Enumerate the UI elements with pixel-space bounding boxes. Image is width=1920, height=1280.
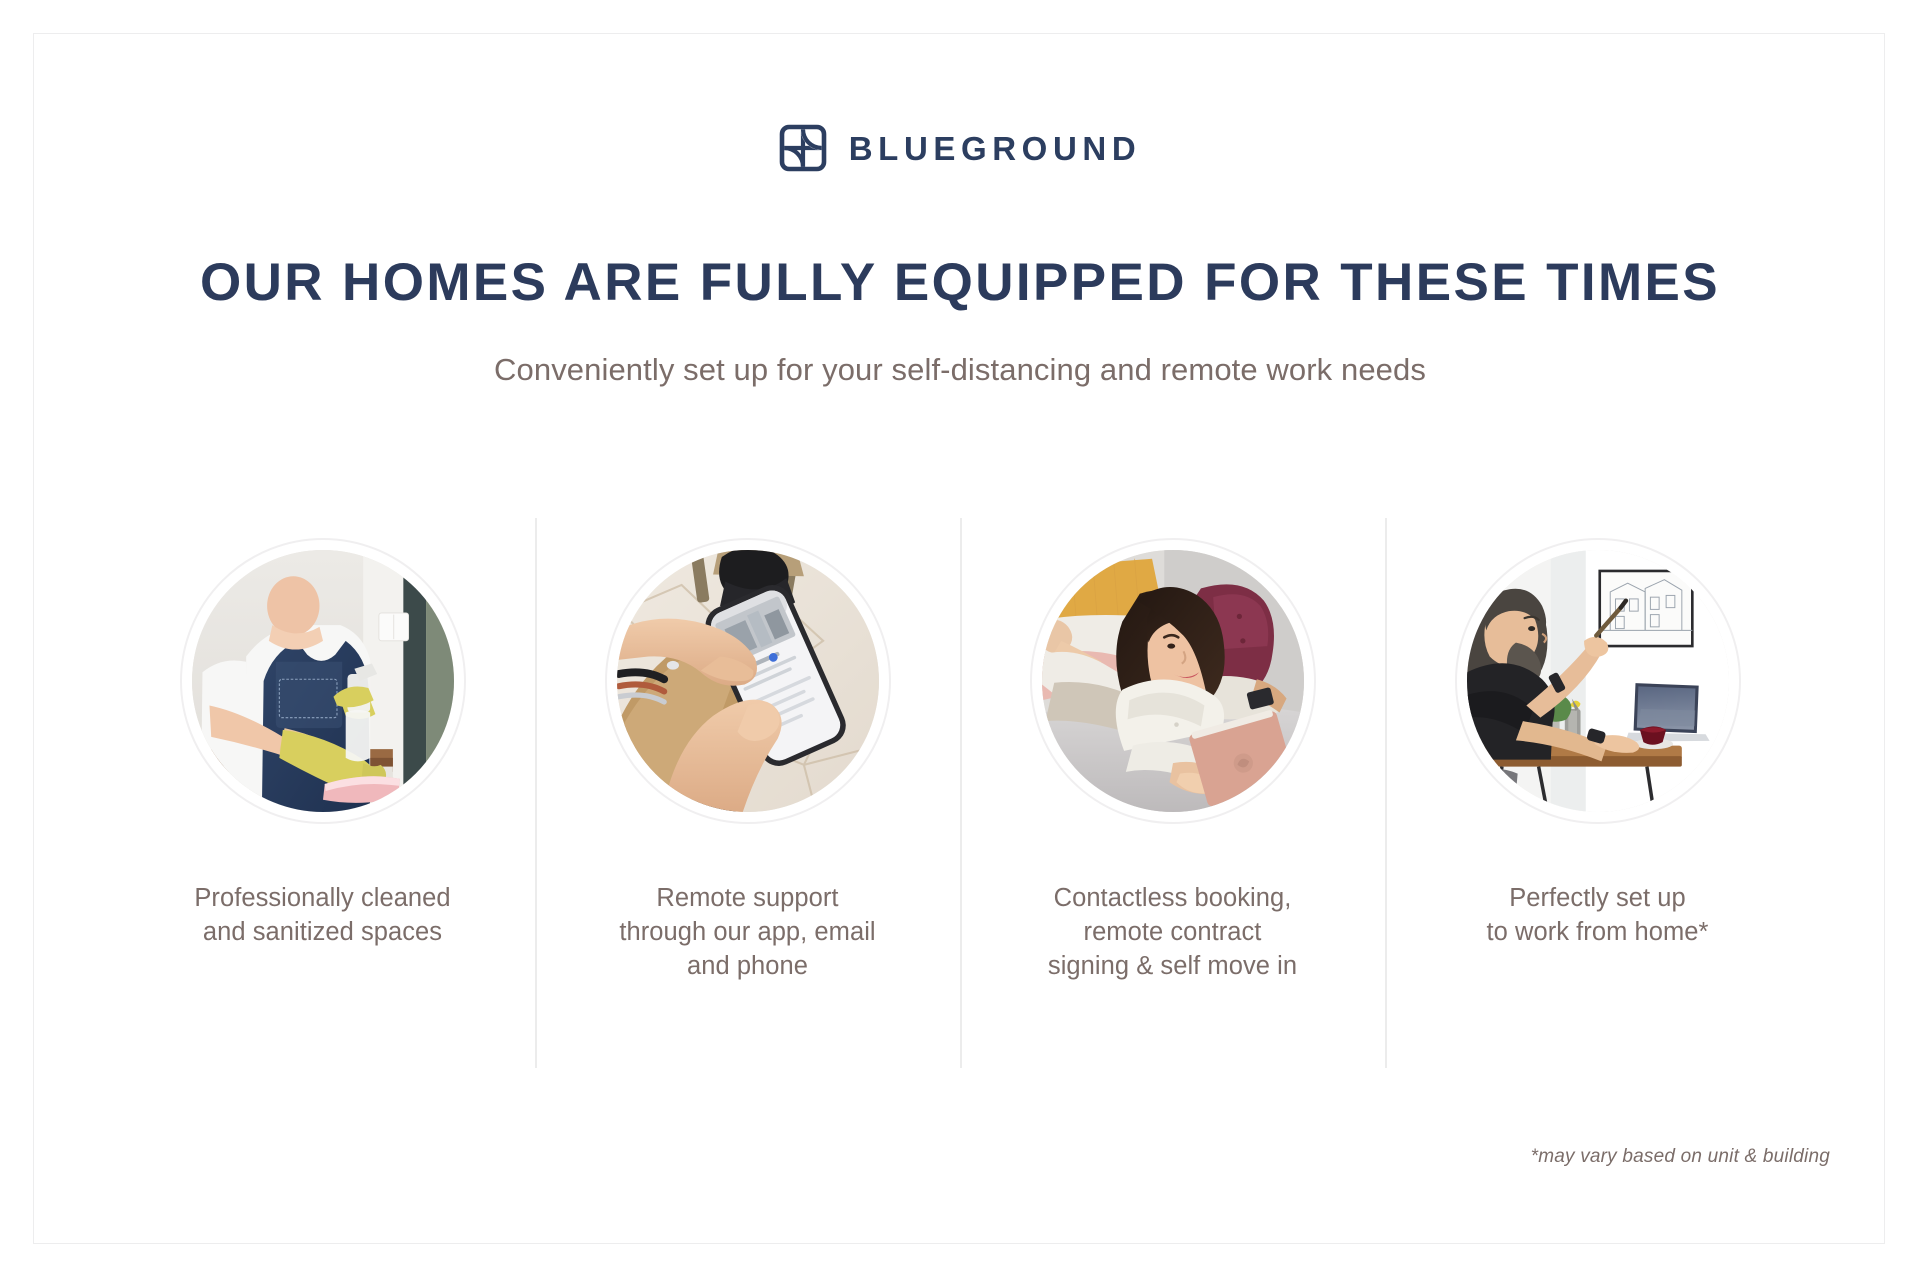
- feature-caption: Remote support through our app, email an…: [619, 882, 875, 984]
- feature-caption: Perfectly set up to work from home*: [1487, 882, 1709, 950]
- photo-cleaner-wiping-counter: [192, 550, 454, 812]
- photo-ring: [1030, 538, 1316, 824]
- feature-column-work-from-home: Perfectly set up to work from home*: [1385, 518, 1810, 1068]
- photo-woman-on-bed-with-tablet: [1042, 550, 1304, 812]
- feature-column-contactless-booking: Contactless booking, remote contract sig…: [960, 518, 1385, 1068]
- photo-ring: [605, 538, 891, 824]
- photo-ring: [1455, 538, 1741, 824]
- blueground-square-mark-icon: [779, 124, 827, 172]
- photo-ring: [180, 538, 466, 824]
- feature-caption: Contactless booking, remote contract sig…: [1048, 882, 1297, 984]
- feature-columns: Professionally cleaned and sanitized spa…: [110, 518, 1810, 1068]
- feature-caption: Professionally cleaned and sanitized spa…: [194, 882, 450, 950]
- feature-column-remote-support: Remote support through our app, email an…: [535, 518, 960, 1068]
- footnote-disclaimer: *may vary based on unit & building: [1531, 1146, 1830, 1168]
- photo-man-working-at-desk-with-laptop: [1467, 550, 1729, 812]
- brand-lockup: BLUEGROUND: [0, 124, 1920, 172]
- page-headline: OUR HOMES ARE FULLY EQUIPPED FOR THESE T…: [0, 255, 1920, 311]
- brand-wordmark: BLUEGROUND: [849, 132, 1142, 165]
- feature-column-cleaning: Professionally cleaned and sanitized spa…: [110, 518, 535, 1068]
- infographic-page: BLUEGROUND OUR HOMES ARE FULLY EQUIPPED …: [0, 0, 1920, 1280]
- page-subheadline: Conveniently set up for your self-distan…: [0, 351, 1920, 388]
- photo-hands-using-smartphone-app: [617, 550, 879, 812]
